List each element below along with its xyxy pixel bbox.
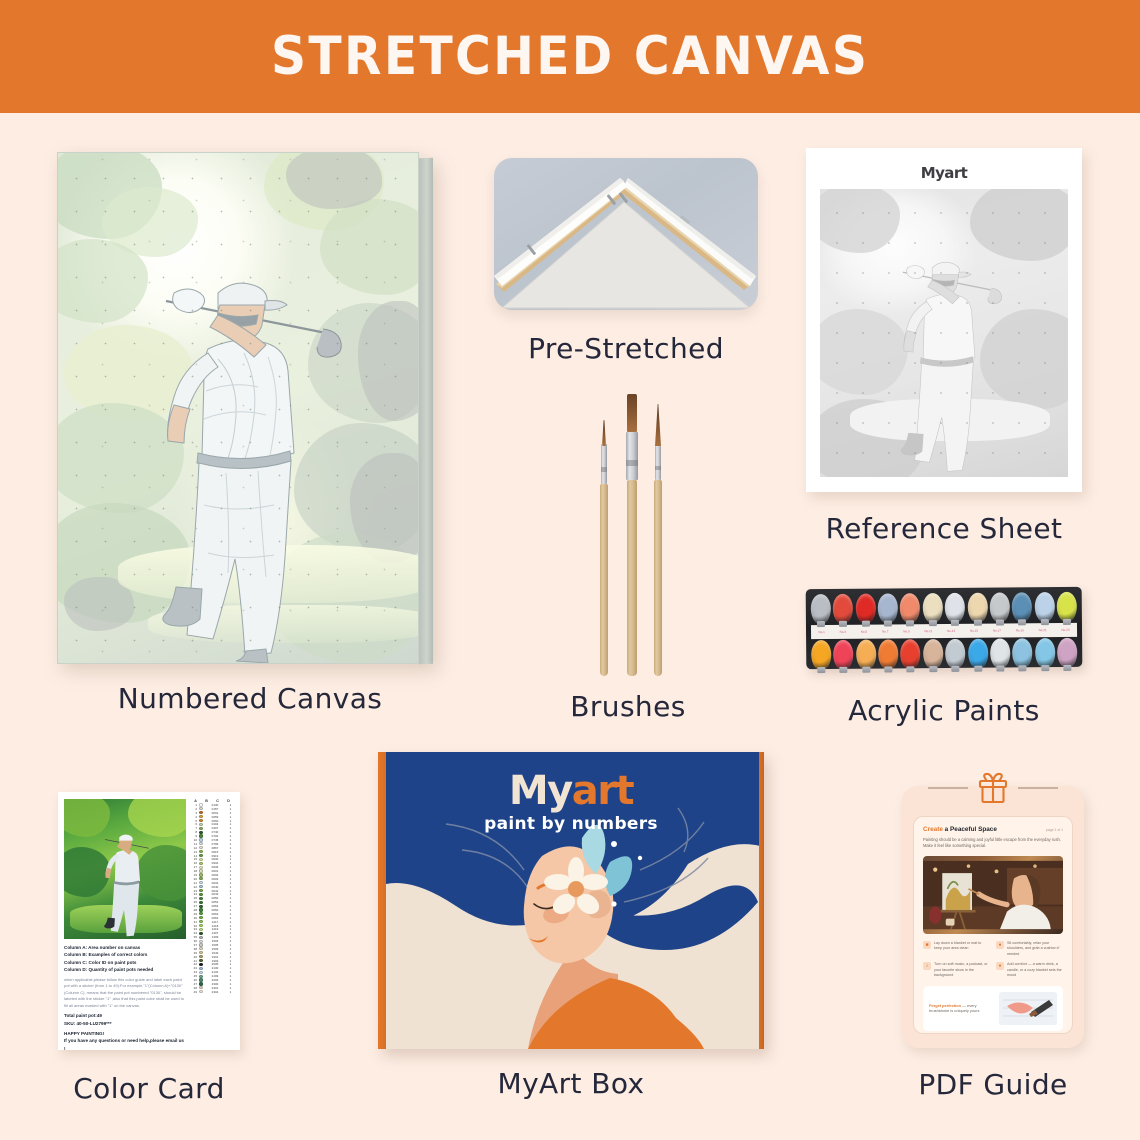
- paint-pot: [967, 593, 987, 623]
- paint-pot: [922, 593, 942, 623]
- paint-pot: [990, 592, 1010, 622]
- product-color-card: Column A: Area number on canvas Column B…: [58, 792, 244, 1105]
- divider-left: [928, 787, 968, 789]
- label-brushes: Brushes: [500, 690, 756, 723]
- brushes-image: [500, 386, 756, 676]
- total-paint-pot: Total paint pot:49: [64, 1012, 186, 1019]
- myart-box-tagline: paint by numbers: [378, 814, 764, 834]
- paint-strip-label: No.5: [861, 630, 867, 634]
- brush-flat-wide: [624, 394, 640, 676]
- gift-decoration: [902, 772, 1084, 804]
- canvas-image: [57, 152, 443, 664]
- canvas-front-face: [57, 152, 419, 664]
- pdf-page-label: page 1 of 1: [1046, 828, 1063, 832]
- candle-icon: ♦: [996, 962, 1004, 970]
- paint-pot: [901, 639, 921, 669]
- logo-art: art: [572, 768, 633, 814]
- cc-area-number: 49: [190, 990, 199, 994]
- pdf-note-text: Forget perfection — every brushstroke is…: [929, 1003, 994, 1015]
- pdf-heading-accent: Create: [923, 826, 943, 833]
- paint-pot: [855, 594, 875, 624]
- paint-strip-label: No.11: [924, 629, 932, 633]
- paint-strip-label: No.13: [947, 629, 955, 633]
- pdf-tip-item: ● Sit comfortably, relax your shoulders,…: [996, 941, 1063, 958]
- product-pdf-guide: Create a Peaceful Space page 1 of 1 Pain…: [902, 786, 1088, 1101]
- color-card-sku: SKU: 40-50-LU2799***: [64, 1020, 186, 1027]
- cc-color-id: 2304: [203, 990, 227, 994]
- paint-pot: [833, 594, 853, 624]
- brush-round-thin: [598, 420, 610, 676]
- reference-sheet-logo: Myart: [820, 164, 1068, 182]
- paint-pot: [1012, 638, 1032, 668]
- legend-column-a: Column A: Area number on canvas: [64, 944, 186, 951]
- legend-column-b: Column B: Examples of correct colors: [64, 951, 186, 958]
- paint-pot: [945, 639, 965, 669]
- logo-my: My: [509, 768, 572, 814]
- reference-sheet-image: [820, 189, 1068, 477]
- pdf-heading-row: Create a Peaceful Space page 1 of 1: [923, 826, 1063, 833]
- color-card-row: 4923041: [190, 990, 234, 994]
- reference-sheet-paper: Myart: [806, 148, 1082, 492]
- pdf-tip-text: Turn on soft music, a podcast, or your f…: [934, 962, 990, 979]
- paint-strip-label: No.7: [882, 629, 888, 633]
- label-numbered-canvas: Numbered Canvas: [57, 682, 443, 715]
- pdf-subtitle: Painting should be a calming and joyful …: [923, 837, 1063, 850]
- paint-pot: [945, 593, 965, 623]
- paint-pot: [968, 639, 988, 669]
- color-card-paper: Column A: Area number on canvas Column B…: [58, 792, 240, 1050]
- paint-pot: [990, 638, 1010, 668]
- label-myart-box: MyArt Box: [378, 1067, 764, 1100]
- myart-box-image: Myart paint by numbers: [378, 752, 764, 1049]
- paint-label-strip: No.1No.3No.5No.7No.9No.11No.13No.15No.17…: [811, 623, 1077, 639]
- blanket-icon: ■: [923, 941, 931, 949]
- color-card-fine-print: when applicable,please follow this color…: [64, 977, 186, 1009]
- paint-pot: [811, 640, 831, 670]
- brush-round-pointed: [652, 404, 664, 676]
- color-card-table: A B C D 10130120157130001140059150060160…: [190, 799, 234, 1043]
- pdf-tips-list: ■ Lay down a blanket or mat to keep your…: [923, 941, 1063, 979]
- paint-strip-label: No.3: [840, 630, 846, 634]
- paint-pot: [923, 639, 943, 669]
- label-pre-stretched: Pre-Stretched: [494, 332, 758, 365]
- paint-pot: [878, 593, 898, 623]
- pdf-guide-page: Create a Peaceful Space page 1 of 1 Pain…: [913, 816, 1073, 1034]
- product-brushes: Brushes: [500, 386, 756, 723]
- canvas-corner-illustration: [494, 158, 758, 310]
- paint-pot-row-top: [811, 592, 1077, 624]
- legend-column-d: Column D: Quantity of paint pots needed: [64, 966, 186, 973]
- color-card-legend: Column A: Area number on canvas Column B…: [64, 944, 186, 1052]
- paint-pot: [1035, 638, 1055, 668]
- pdf-photo: [923, 856, 1063, 934]
- page-header: STRETCHED CANVAS: [0, 0, 1140, 113]
- color-card-golfer: [64, 799, 186, 939]
- paint-strip-label: No.19: [1016, 628, 1024, 632]
- pdf-tip-item: ♪ Turn on soft music, a podcast, or your…: [923, 962, 990, 979]
- product-acrylic-paints: No.1No.3No.5No.7No.9No.11No.13No.15No.17…: [806, 588, 1086, 727]
- label-pdf-guide: PDF Guide: [902, 1068, 1084, 1101]
- paint-strip-label: No.21: [1039, 628, 1047, 632]
- paint-tray: No.1No.3No.5No.7No.9No.11No.13No.15No.17…: [806, 587, 1083, 669]
- divider-right: [1018, 787, 1058, 789]
- label-acrylic-paints: Acrylic Paints: [806, 694, 1082, 727]
- paint-strip-label: No.1: [818, 630, 824, 634]
- canvas-side-edge: [419, 158, 433, 664]
- paint-pot-row-bottom: [811, 638, 1077, 670]
- legend-column-c: Column C: Color ID on paint pots: [64, 959, 186, 966]
- pdf-guide-card: Create a Peaceful Space page 1 of 1 Pain…: [902, 786, 1084, 1048]
- pdf-note-bold: Forget perfection: [929, 1003, 961, 1008]
- product-myart-box: Myart paint by numbers MyArt Box: [378, 752, 768, 1100]
- myart-box-logo: Myart: [378, 768, 764, 814]
- pdf-tip-text: Lay down a blanket or mat to keep your a…: [934, 941, 990, 958]
- paint-pot: [1012, 592, 1032, 622]
- paint-pot: [1057, 592, 1077, 622]
- paint-strip-label: No.23: [1061, 628, 1069, 632]
- page-title: STRETCHED CANVAS: [271, 26, 869, 87]
- pdf-tip-text: Sit comfortably, relax your shoulders, a…: [1007, 941, 1063, 958]
- cushion-icon: ●: [996, 941, 1004, 949]
- pdf-heading: Create a Peaceful Space: [923, 826, 997, 833]
- paint-pot: [878, 639, 898, 669]
- product-reference-sheet: Myart: [806, 148, 1086, 545]
- cc-quantity: 1: [227, 990, 234, 994]
- happy-painting: HAPPY PAINTING!: [64, 1030, 186, 1037]
- color-card-contact: If you have any questions or need help,p…: [64, 1037, 186, 1052]
- paint-strip-label: No.9: [903, 629, 909, 633]
- paint-strip-label: No.15: [970, 629, 978, 633]
- brushstroke-illustration: [999, 992, 1057, 1025]
- label-reference-sheet: Reference Sheet: [806, 512, 1082, 545]
- paint-pot: [1057, 638, 1077, 668]
- pdf-tip-item: ■ Lay down a blanket or mat to keep your…: [923, 941, 990, 958]
- paint-pot: [900, 593, 920, 623]
- paint-pot: [1034, 592, 1054, 622]
- product-numbered-canvas: Numbered Canvas: [57, 152, 447, 715]
- paint-pot: [811, 594, 831, 624]
- paint-pot: [833, 640, 853, 670]
- music-icon: ♪: [923, 962, 931, 970]
- product-pre-stretched: Pre-Stretched: [494, 158, 762, 365]
- pdf-tip-item: ♦ Add comfort — a warm drink, a candle, …: [996, 962, 1063, 979]
- canvas-number-speckles: [58, 153, 418, 663]
- paint-strip-label: No.17: [993, 629, 1001, 633]
- pdf-heading-rest: a Peaceful Space: [943, 826, 997, 833]
- paint-pot: [856, 640, 876, 670]
- pdf-tip-text: Add comfort — a warm drink, a candle, or…: [1007, 962, 1063, 979]
- pdf-note-image: [999, 992, 1057, 1025]
- label-color-card: Color Card: [58, 1072, 240, 1105]
- gift-icon: [976, 772, 1010, 804]
- pre-stretched-photo: [494, 158, 758, 310]
- painting-scene-illustration: [923, 856, 1063, 934]
- color-card-photo: [64, 799, 186, 939]
- pdf-note: Forget perfection — every brushstroke is…: [923, 986, 1063, 1031]
